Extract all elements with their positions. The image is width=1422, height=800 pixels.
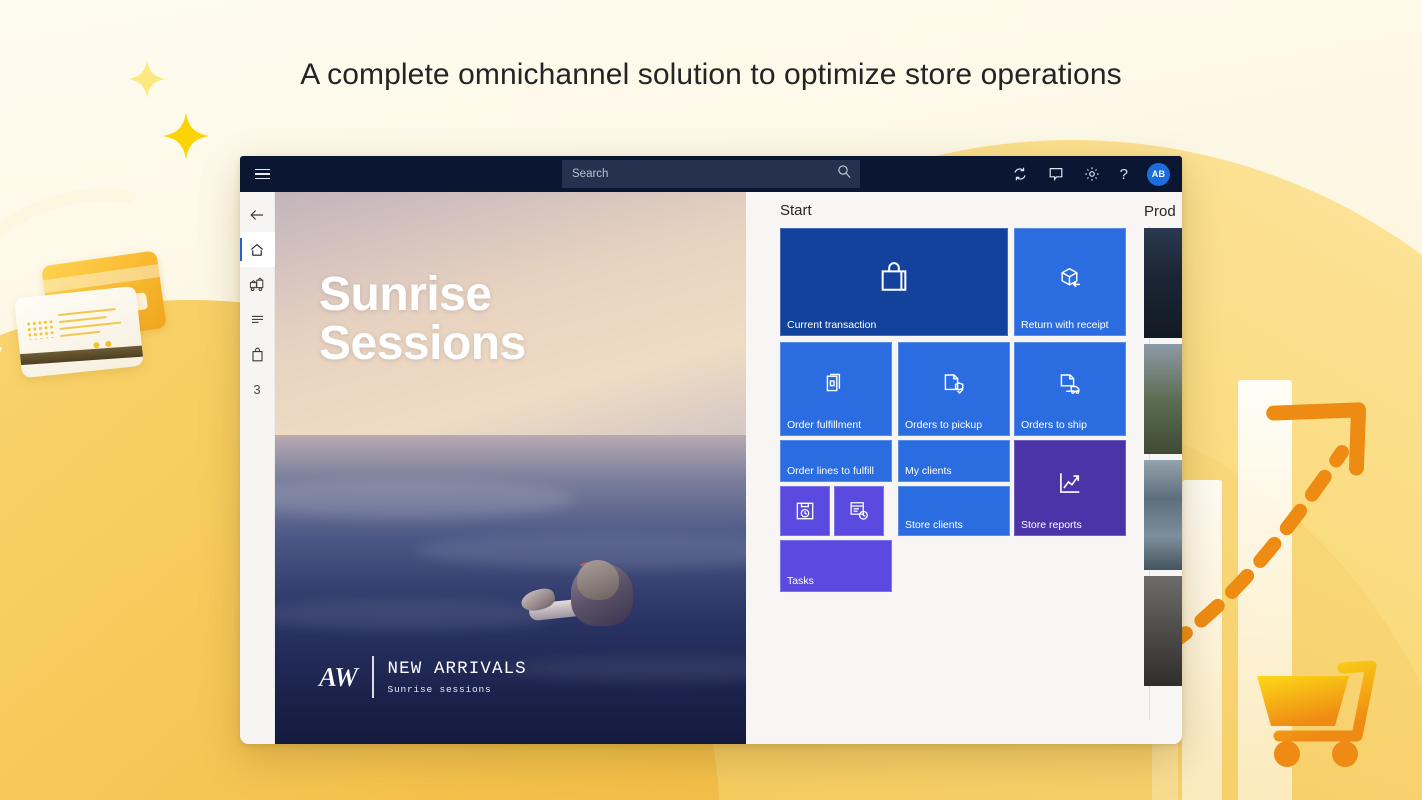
return-box-icon	[1058, 265, 1083, 290]
tile-label: Store reports	[1021, 519, 1082, 531]
order-doc-icon	[824, 372, 848, 396]
tile-store-clients[interactable]: Store clients	[898, 486, 1010, 536]
tile-orders-to-pickup[interactable]: Orders to pickup	[898, 342, 1010, 436]
shopping-bag-icon	[877, 260, 911, 294]
products-group: Prod	[1144, 228, 1182, 686]
sync-icon[interactable]	[1012, 166, 1029, 183]
promo-page: A complete omnichannel solution to optim…	[0, 0, 1422, 800]
avatar[interactable]: AB	[1147, 163, 1170, 186]
tile-label: Orders to pickup	[905, 419, 982, 431]
promo-hero-panel[interactable]: Sunrise Sessions AW NEW ARRIVALS Sunrise…	[275, 192, 746, 744]
start-tile-group: Current transaction Return with receipt …	[780, 228, 1132, 686]
tile-label: My clients	[905, 465, 952, 477]
tile-scroll-area[interactable]: Current transaction Return with receipt …	[746, 228, 1182, 686]
search-placeholder: Search	[572, 168, 837, 180]
sidebar-item-home[interactable]	[240, 232, 275, 267]
app-window: Search	[240, 156, 1182, 744]
white-card	[14, 286, 144, 378]
tile-label: Store clients	[905, 519, 963, 531]
tile-grid: Current transaction Return with receipt …	[780, 228, 1130, 570]
topbar-actions: ? AB	[1012, 156, 1170, 192]
hero-title-line1: Sunrise	[319, 270, 526, 319]
sidebar-item-cart[interactable]	[240, 337, 275, 372]
divider	[372, 656, 374, 698]
hero-title: Sunrise Sessions	[319, 270, 526, 369]
search-icon[interactable]	[837, 164, 852, 184]
shopping-cart-icon	[1253, 660, 1383, 775]
product-image[interactable]	[1144, 460, 1182, 570]
sidebar-item-list[interactable]	[240, 302, 275, 337]
pickup-doc-icon	[942, 372, 966, 396]
tile-store-reports[interactable]: Store reports	[1014, 440, 1126, 536]
time-clock-save-icon	[794, 500, 816, 522]
brand-logo: AW	[319, 662, 358, 693]
notification-icon[interactable]	[1048, 166, 1065, 183]
chart-up-icon	[1057, 470, 1083, 496]
tile-current-transaction[interactable]: Current transaction	[780, 228, 1008, 336]
page-headline: A complete omnichannel solution to optim…	[0, 58, 1422, 92]
help-icon[interactable]: ?	[1120, 167, 1128, 182]
credit-cards-illustration	[18, 258, 188, 378]
tile-label: Orders to ship	[1021, 419, 1087, 431]
search-input[interactable]: Search	[562, 160, 860, 188]
products-title: Prod	[1144, 203, 1176, 220]
sidebar-item-products[interactable]	[240, 267, 275, 302]
app-body: 3 Sunrise Sessions AW	[240, 192, 1182, 744]
hero-footer: AW NEW ARRIVALS Sunrise sessions	[319, 656, 527, 698]
tile-my-clients[interactable]: My clients	[898, 440, 1010, 482]
app-topbar: Search	[240, 156, 1182, 192]
product-image[interactable]	[1144, 576, 1182, 686]
tile-label: Return with receipt	[1021, 319, 1109, 331]
tile-return-with-receipt[interactable]: Return with receipt	[1014, 228, 1126, 336]
hero-footer-title: NEW ARRIVALS	[388, 659, 527, 679]
sparkle-large-icon	[160, 110, 212, 162]
ship-truck-icon	[1058, 372, 1082, 396]
tile-orders-to-ship[interactable]: Orders to ship	[1014, 342, 1126, 436]
page-title: Start	[746, 202, 1182, 228]
tile-order-fulfillment[interactable]: Order fulfillment	[780, 342, 892, 436]
tile-tasks[interactable]: Tasks	[780, 540, 892, 592]
tile-icon-9[interactable]	[834, 486, 884, 536]
report-clock-icon	[848, 500, 870, 522]
product-image[interactable]	[1144, 228, 1182, 338]
growth-arrow-icon	[1160, 392, 1406, 657]
tile-label: Tasks	[787, 575, 814, 587]
hero-title-line2: Sessions	[319, 319, 526, 368]
hamburger-icon[interactable]	[244, 169, 280, 180]
nav-rail: 3	[240, 192, 275, 744]
tile-order-lines-to-fulfill[interactable]: Order lines to fulfill	[780, 440, 892, 482]
tile-icon-8[interactable]	[780, 486, 830, 536]
surfer-figure	[521, 564, 641, 639]
start-tiles-pane: Start Current transaction Return with re…	[746, 192, 1182, 744]
back-arrow-icon[interactable]	[240, 197, 275, 232]
cart-item-count[interactable]: 3	[240, 372, 275, 407]
hero-footer-subtitle: Sunrise sessions	[388, 684, 527, 695]
product-image[interactable]	[1144, 344, 1182, 454]
product-image-column[interactable]	[1144, 228, 1182, 686]
gear-icon[interactable]	[1084, 166, 1101, 183]
tile-label: Current transaction	[787, 319, 876, 331]
tile-label: Order lines to fulfill	[787, 465, 874, 477]
tile-label: Order fulfillment	[787, 419, 861, 431]
